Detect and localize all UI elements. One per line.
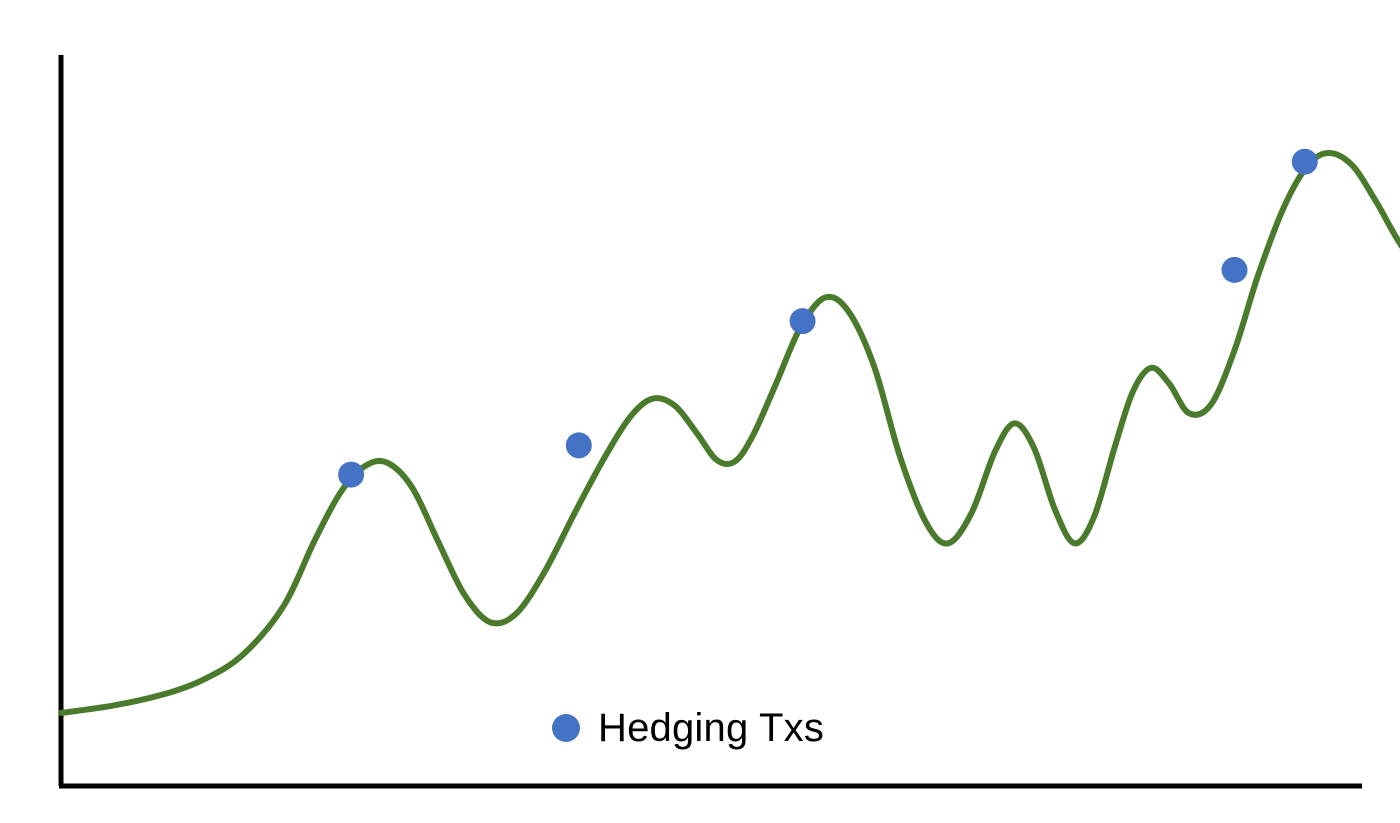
hedging-tx-marker[interactable] [790,308,816,334]
chart-legend: Hedging Txs [552,706,824,750]
legend-label-hedging-txs: Hedging Txs [598,706,824,750]
hedging-tx-marker[interactable] [1292,149,1318,175]
chart-canvas: Hedging Txs [0,0,1400,823]
trend-line-path [61,90,1400,713]
legend-marker-icon [552,714,580,742]
chart-plot-area [0,0,1400,823]
hedging-tx-marker[interactable] [1222,257,1248,283]
hedging-tx-marker-group [338,96,1400,488]
hedging-tx-marker[interactable] [566,432,592,458]
hedging-tx-marker[interactable] [338,462,364,488]
chart-axes [59,55,1362,786]
